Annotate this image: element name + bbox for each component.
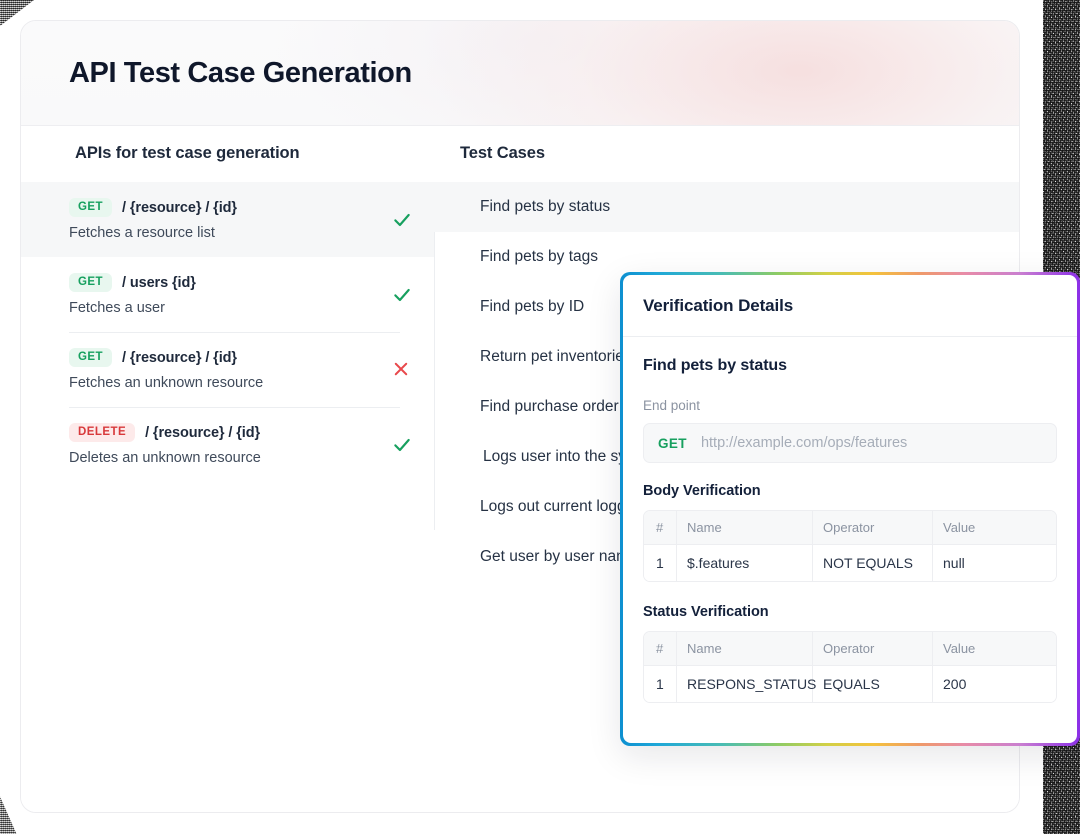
cell-name: $.features bbox=[676, 545, 812, 581]
modal-test-case-name: Find pets by status bbox=[643, 357, 1057, 375]
api-method-badge: DELETE bbox=[69, 423, 135, 442]
table-header-row: # Name Operator Value bbox=[644, 632, 1056, 666]
test-cases-column-heading: Test Cases bbox=[460, 144, 545, 163]
table-header-row: # Name Operator Value bbox=[644, 511, 1056, 545]
col-header-operator: Operator bbox=[812, 511, 932, 545]
col-header-operator: Operator bbox=[812, 632, 932, 666]
api-method-badge: GET bbox=[69, 348, 112, 367]
verification-details-modal: Verification Details Find pets by status… bbox=[623, 275, 1077, 743]
page-title: API Test Case Generation bbox=[69, 57, 412, 90]
api-description: Fetches an unknown resource bbox=[69, 375, 400, 391]
modal-header: Verification Details bbox=[623, 275, 1077, 337]
col-header-value: Value bbox=[932, 511, 1056, 545]
api-description: Fetches a user bbox=[69, 300, 400, 316]
endpoint-field[interactable]: GET http://example.com/ops/features bbox=[643, 423, 1057, 463]
cell-index: 1 bbox=[644, 666, 676, 702]
col-header-index: # bbox=[644, 632, 676, 666]
cell-operator: EQUALS bbox=[812, 666, 932, 702]
apis-column-heading: APIs for test case generation bbox=[75, 144, 300, 163]
api-item-header: GET/ {resource} / {id} bbox=[69, 198, 400, 217]
modal-title: Verification Details bbox=[643, 296, 793, 316]
cell-value: null bbox=[932, 545, 1056, 581]
api-path: / users {id} bbox=[122, 275, 196, 291]
cross-icon bbox=[392, 360, 412, 380]
body-verification-title: Body Verification bbox=[643, 483, 1057, 499]
verification-details-modal-border: Verification Details Find pets by status… bbox=[620, 272, 1080, 746]
cell-index: 1 bbox=[644, 545, 676, 581]
api-item-header: GET/ {resource} / {id} bbox=[69, 348, 400, 367]
column-headings: APIs for test case generation Test Cases bbox=[21, 126, 1019, 182]
test-case-list-item[interactable]: Find pets by status bbox=[434, 182, 1019, 232]
api-list-item[interactable]: DELETE/ {resource} / {id}Deletes an unkn… bbox=[21, 407, 434, 482]
check-icon bbox=[392, 285, 412, 305]
api-list-item[interactable]: GET/ {resource} / {id}Fetches an unknown… bbox=[21, 332, 434, 407]
api-list-item[interactable]: GET/ users {id}Fetches a user bbox=[21, 257, 434, 332]
col-header-value: Value bbox=[932, 632, 1056, 666]
api-path: / {resource} / {id} bbox=[145, 425, 260, 441]
col-header-name: Name bbox=[676, 632, 812, 666]
col-header-index: # bbox=[644, 511, 676, 545]
api-description: Fetches a resource list bbox=[69, 225, 400, 241]
api-item-header: DELETE/ {resource} / {id} bbox=[69, 423, 400, 442]
endpoint-url-input[interactable]: http://example.com/ops/features bbox=[701, 435, 907, 451]
modal-content: Find pets by status End point GET http:/… bbox=[623, 337, 1077, 723]
table-row: 1RESPONS_STATUSEQUALS200 bbox=[644, 666, 1056, 702]
table-row: 1$.featuresNOT EQUALSnull bbox=[644, 545, 1056, 581]
endpoint-label: End point bbox=[643, 398, 1057, 413]
api-path: / {resource} / {id} bbox=[122, 200, 237, 216]
status-verification-title: Status Verification bbox=[643, 604, 1057, 620]
api-list-item[interactable]: GET/ {resource} / {id}Fetches a resource… bbox=[21, 182, 434, 257]
page-header: API Test Case Generation bbox=[21, 21, 1019, 126]
api-description: Deletes an unknown resource bbox=[69, 450, 400, 466]
endpoint-method-badge: GET bbox=[644, 436, 701, 451]
col-header-name: Name bbox=[676, 511, 812, 545]
status-verification-table: # Name Operator Value 1RESPONS_STATUSEQU… bbox=[643, 631, 1057, 703]
check-icon bbox=[392, 210, 412, 230]
check-icon bbox=[392, 435, 412, 455]
body-verification-table: # Name Operator Value 1$.featuresNOT EQU… bbox=[643, 510, 1057, 582]
api-list: GET/ {resource} / {id}Fetches a resource… bbox=[21, 182, 434, 482]
screenshot-root: API Test Case Generation APIs for test c… bbox=[0, 0, 1080, 834]
api-method-badge: GET bbox=[69, 198, 112, 217]
cell-operator: NOT EQUALS bbox=[812, 545, 932, 581]
api-item-header: GET/ users {id} bbox=[69, 273, 400, 292]
api-method-badge: GET bbox=[69, 273, 112, 292]
cell-name: RESPONS_STATUS bbox=[676, 666, 812, 702]
cell-value: 200 bbox=[932, 666, 1056, 702]
api-path: / {resource} / {id} bbox=[122, 350, 237, 366]
